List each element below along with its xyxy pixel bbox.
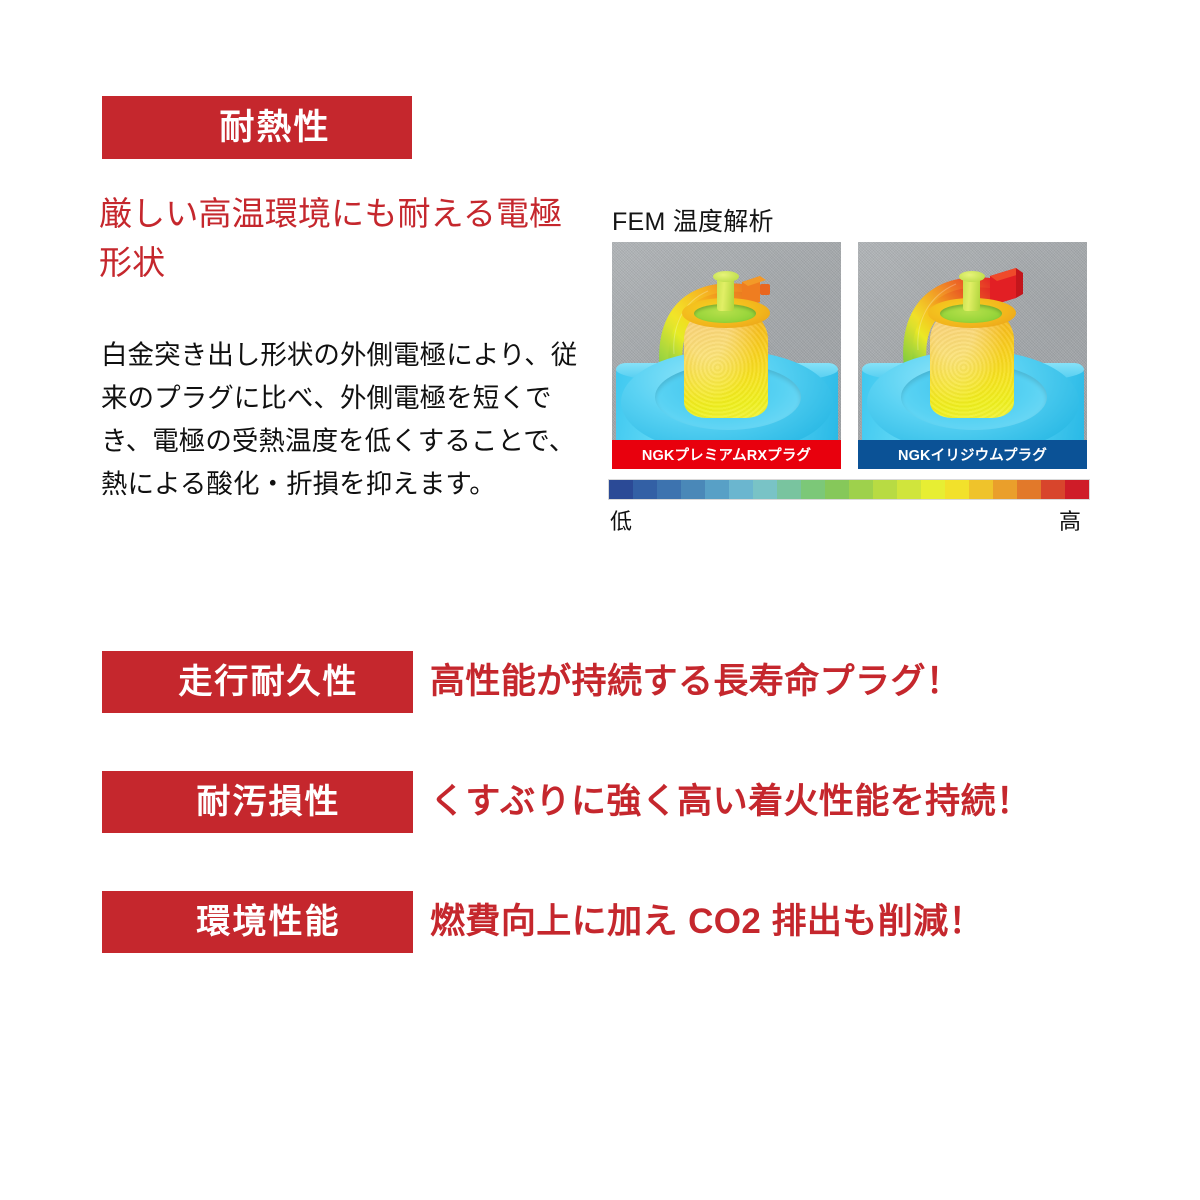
- color-scale-swatch-18: [1041, 480, 1065, 499]
- section-badge-heat-resistance: 耐熱性: [102, 96, 412, 159]
- feature-badge-environmental-performance: 環境性能: [102, 891, 413, 953]
- color-scale-swatch-9: [825, 480, 849, 499]
- color-scale-swatch-6: [753, 480, 777, 499]
- temperature-color-scale: [608, 479, 1090, 500]
- color-scale-swatch-0: [609, 480, 633, 499]
- feature-text-environmental-performance: 燃費向上に加え CO2 排出も削減！: [430, 904, 984, 939]
- color-scale-swatch-13: [921, 480, 945, 499]
- color-scale-swatch-10: [849, 480, 873, 499]
- scale-label-high: 高: [1059, 504, 1081, 536]
- badge-label: 走行耐久性: [178, 665, 358, 699]
- feature-badge-fouling-resistance: 耐汚損性: [102, 771, 413, 833]
- fem-analysis-title: FEM 温度解析: [612, 202, 774, 238]
- badge-label: 耐熱性: [219, 110, 330, 145]
- color-scale-swatch-15: [969, 480, 993, 499]
- badge-label: 環境性能: [196, 905, 340, 939]
- color-scale-swatch-14: [945, 480, 969, 499]
- color-scale-swatch-2: [657, 480, 681, 499]
- center-electrode-cap-iridium: [959, 271, 985, 282]
- color-scale-swatch-16: [993, 480, 1017, 499]
- color-scale-swatch-5: [729, 480, 753, 499]
- heat-body-paragraph: 白金突き出し形状の外側電極により、従来のプラグに比べ、外側電極を短くでき、電極の…: [101, 334, 587, 506]
- color-scale-swatch-17: [1017, 480, 1041, 499]
- scale-label-low: 低: [610, 504, 632, 536]
- fem-caption-premium-rx: NGKプレミアムRXプラグ: [612, 440, 841, 469]
- color-scale-swatch-3: [681, 480, 705, 499]
- feature-text-driving-durability: 高性能が持続する長寿命プラグ！: [430, 664, 961, 699]
- color-scale-swatch-1: [633, 480, 657, 499]
- center-electrode-cap-rx: [713, 271, 739, 282]
- color-scale-swatch-8: [801, 480, 825, 499]
- color-scale-swatch-11: [873, 480, 897, 499]
- color-scale-swatch-4: [705, 480, 729, 499]
- feature-badge-driving-durability: 走行耐久性: [102, 651, 413, 713]
- fem-caption-iridium: NGKイリジウムプラグ: [858, 440, 1087, 469]
- fem-image-iridium: NGKイリジウムプラグ: [858, 242, 1087, 469]
- feature-text-fouling-resistance: くすぶりに強く高い着火性能を持続！: [430, 784, 1031, 819]
- color-scale-swatch-19: [1065, 480, 1089, 499]
- color-scale-swatch-12: [897, 480, 921, 499]
- heat-lead-headline: 厳しい高温環境にも耐える電極形状: [99, 190, 569, 288]
- color-scale-swatch-7: [777, 480, 801, 499]
- badge-label: 耐汚損性: [196, 785, 340, 819]
- fem-image-premium-rx: NGKプレミアムRXプラグ: [612, 242, 841, 469]
- promo-page: 耐熱性 厳しい高温環境にも耐える電極形状 白金突き出し形状の外側電極により、従来…: [0, 0, 1200, 1200]
